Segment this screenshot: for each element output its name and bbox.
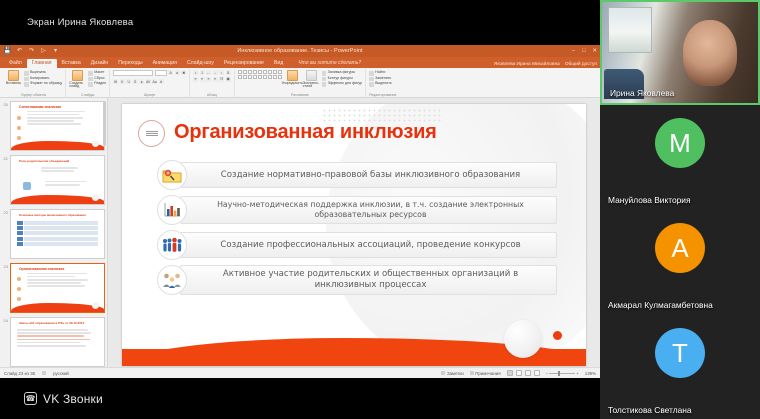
- underline-icon[interactable]: Ч: [126, 79, 131, 84]
- shape-icon[interactable]: [268, 70, 272, 74]
- zoom-level[interactable]: 139%: [585, 371, 596, 376]
- slide-logo: [138, 120, 165, 147]
- thumbnail-bullet-icon: [17, 287, 21, 291]
- zoom-out-button[interactable]: −: [546, 371, 549, 376]
- drawing-group-label: Рисование: [238, 94, 363, 98]
- thumbnail-decoration: [92, 140, 99, 147]
- zoom-slider-knob[interactable]: [558, 371, 560, 376]
- tab-review[interactable]: Рецензирование: [219, 59, 269, 68]
- outline-icon: [322, 77, 327, 82]
- slide-circle-decoration: [553, 331, 562, 340]
- thumbnail-title: Роль родительских объединений: [19, 159, 104, 163]
- shape-icon[interactable]: [278, 75, 282, 79]
- shape-fill-button[interactable]: Заливка фигуры: [322, 71, 363, 76]
- thumbnail-slide-21[interactable]: Роль родительских объединений: [10, 155, 105, 205]
- clear-formatting-icon[interactable]: ✖: [181, 70, 186, 75]
- shape-icon[interactable]: [263, 75, 267, 79]
- smartart-icon[interactable]: ▣: [226, 77, 231, 82]
- thumbnail-slide-24[interactable]: Закон «Об образовании в РФ» от 29.12.201…: [10, 317, 105, 367]
- decrease-indent-icon[interactable]: ←: [206, 70, 211, 75]
- arrange-button[interactable]: Упорядочить: [284, 70, 301, 85]
- italic-icon[interactable]: К: [120, 79, 125, 84]
- slide-bullet-text: Научно-методическая поддержка инклюзии, …: [199, 200, 542, 219]
- powerpoint-window: 💾 ↶ ↷ ▷ ▾ Инклюзивное образование. Тезис…: [0, 45, 600, 378]
- strikethrough-icon[interactable]: S: [133, 79, 138, 84]
- slide-bullet-box: Создание профессиональных ассоциаций, пр…: [180, 232, 557, 258]
- slide-editing-stage[interactable]: Организованная инклюзия: [108, 98, 600, 377]
- document-title: Инклюзивное образование. Тезисы - PowerP…: [0, 48, 600, 54]
- phone-icon: ☎: [24, 392, 37, 405]
- tab-slideshow[interactable]: Слайд-шоу: [182, 59, 219, 68]
- slide-title: Организованная инклюзия: [174, 121, 437, 144]
- thumbnail-number: 21: [2, 155, 8, 161]
- select-button[interactable]: Выделить: [369, 82, 392, 87]
- zoom-in-button[interactable]: +: [576, 371, 579, 376]
- participant-tile-akmaral-kulmagambetovna[interactable]: А Акмарал Кулмагамбетовна: [600, 210, 760, 315]
- editing-group-label: Редактирование: [369, 94, 396, 98]
- slide-bullet-item[interactable]: Активное участие родительских и обществе…: [157, 265, 557, 295]
- participant-name: Акмарал Кулмагамбетовна: [608, 300, 713, 310]
- thumbnail-number: 20: [2, 101, 8, 107]
- shape-icon[interactable]: [263, 70, 267, 74]
- screen-share-call-window: Экран Ирина Яковлева 💾 ↶ ↷ ▷ ▾ Инклюзивн…: [0, 0, 760, 419]
- slideshow-icon[interactable]: [534, 370, 540, 376]
- font-name-input[interactable]: [113, 70, 153, 76]
- thumbnail-decoration: [92, 302, 99, 309]
- thumbnail-decoration: [11, 141, 104, 150]
- shape-icon[interactable]: [238, 70, 242, 74]
- close-icon[interactable]: ✕: [592, 48, 597, 54]
- shape-icon[interactable]: [238, 75, 242, 79]
- thumbnail-number: 24: [2, 317, 8, 323]
- align-center-icon[interactable]: ≡: [200, 77, 205, 82]
- shape-icon[interactable]: [268, 75, 272, 79]
- text-direction-icon[interactable]: ⇅: [226, 70, 231, 75]
- tab-animations[interactable]: Анимация: [148, 59, 182, 68]
- participant-name: Толстикова Светлана: [608, 405, 692, 415]
- quick-styles-button[interactable]: Экспресс-стили: [303, 70, 320, 89]
- ribbon-group-font: A a ✖ Ж К Ч S ● AV Aa: [110, 69, 190, 98]
- ribbon-group-clipboard: Вставить Вырезать Копировать: [2, 69, 66, 98]
- current-slide[interactable]: Организованная инклюзия: [122, 104, 586, 366]
- minimize-icon[interactable]: –: [572, 48, 575, 54]
- reset-button[interactable]: Сброс: [88, 77, 106, 82]
- quick-styles-label: Экспресс-стили: [303, 82, 320, 89]
- thumbnail-scrollbar[interactable]: [103, 101, 106, 146]
- comments-icon: [470, 371, 474, 375]
- slide-bullet-text: Создание нормативно-правовой базы инклюз…: [221, 170, 520, 181]
- increase-indent-icon[interactable]: →: [213, 70, 218, 75]
- slide-circle-decoration: [504, 320, 542, 358]
- powerpoint-title-bar: 💾 ↶ ↷ ▷ ▾ Инклюзивное образование. Тезис…: [0, 45, 600, 57]
- vk-footer: ☎ VK Звонки: [0, 378, 600, 419]
- bullets-icon[interactable]: •: [193, 70, 198, 75]
- effects-icon: [322, 82, 327, 87]
- participant-name: Мануйлова Виктория: [608, 195, 691, 205]
- thumbnail-item[interactable]: 20 Сопоставимая инклюзия: [2, 101, 105, 151]
- slide-bullet-text: Активное участие родительских и обществе…: [199, 269, 542, 290]
- avatar: Т: [655, 328, 705, 378]
- account-name: Яковлева Ирина Михайловна: [494, 62, 560, 67]
- participant-rail[interactable]: Ирина Яковлева М Мануйлова Виктория А Ак…: [600, 0, 760, 419]
- ribbon-group-editing: Найти Заменить Выделить Редактирование: [366, 69, 399, 98]
- replace-icon: [369, 77, 374, 82]
- increase-font-icon[interactable]: A: [168, 70, 173, 75]
- shape-icon[interactable]: [253, 75, 257, 79]
- slide-bullet-item[interactable]: Научно-методическая поддержка инклюзии, …: [157, 195, 557, 225]
- thumbnail-slide-23[interactable]: Организованная инклюзия: [10, 263, 105, 313]
- view-buttons[interactable]: [507, 370, 540, 376]
- shape-icon[interactable]: [258, 70, 262, 74]
- slide-bullet-text: Создание профессиональных ассоциаций, пр…: [220, 240, 520, 251]
- participant-name: Ирина Яковлева: [610, 88, 674, 98]
- notes-button[interactable]: Заметки: [441, 371, 463, 376]
- tab-transitions[interactable]: Переходы: [113, 59, 147, 68]
- tab-file[interactable]: Файл: [4, 59, 27, 68]
- ribbon-tabs[interactable]: Файл Главная Вставка Дизайн Переходы Ани…: [0, 57, 600, 68]
- paste-icon: [8, 70, 19, 81]
- avatar: А: [655, 223, 705, 273]
- thumbnail-bullet-icon: [17, 126, 21, 130]
- folder-search-icon: [157, 160, 187, 190]
- shape-icon[interactable]: [253, 70, 257, 74]
- thumbnail-decoration: [11, 303, 104, 312]
- shapes-gallery[interactable]: [238, 70, 282, 79]
- tab-design[interactable]: Дизайн: [86, 59, 113, 68]
- video-background-window: [608, 7, 652, 53]
- layout-icon: [88, 71, 93, 76]
- thumbnail-bullet-icon: [17, 297, 21, 301]
- thumbnail-slide-22[interactable]: Основные векторы инклюзивного образовани…: [10, 209, 105, 259]
- font-group-label: Шрифт: [113, 94, 186, 98]
- search-icon: [369, 71, 374, 76]
- normal-view-icon[interactable]: [507, 370, 513, 376]
- decrease-font-icon[interactable]: a: [175, 70, 180, 75]
- tell-me-search[interactable]: Что вы хотите сделать?: [298, 60, 361, 68]
- shadow-icon[interactable]: ●: [139, 79, 144, 84]
- columns-icon[interactable]: ☷: [219, 77, 224, 82]
- participant-tile-tolstikova-svetlana[interactable]: Т Толстикова Светлана: [600, 315, 760, 419]
- bar-chart-icon: [157, 195, 187, 225]
- char-spacing-icon[interactable]: AV: [146, 79, 151, 84]
- people-group-icon: [157, 230, 187, 260]
- thumbnail-decoration: [92, 194, 99, 201]
- slide-dot-pattern: [322, 108, 442, 122]
- participant-tile-manuylova-viktoriya[interactable]: М Мануйлова Виктория: [600, 105, 760, 210]
- shape-icon[interactable]: [258, 75, 262, 79]
- avatar: М: [655, 118, 705, 168]
- line-spacing-icon[interactable]: ↕: [219, 70, 224, 75]
- slide-bullet-list: Создание нормативно-правовой базы инклюз…: [157, 160, 557, 300]
- new-slide-icon: [72, 70, 83, 81]
- font-color-icon[interactable]: A: [159, 79, 164, 84]
- thumbnail-decoration: [11, 195, 104, 204]
- thumbnail-number: 22: [2, 209, 8, 215]
- status-bar[interactable]: Слайд 23 из 36 русский Заметки Примечани…: [0, 367, 600, 378]
- zoom-slider[interactable]: − +: [546, 371, 579, 376]
- vk-brand-label: VK Звонки: [43, 392, 103, 406]
- section-icon: [88, 82, 93, 87]
- section-button[interactable]: Раздел: [88, 82, 106, 87]
- thumbnail-bullet-icon: [17, 277, 21, 281]
- numbering-icon[interactable]: 1: [200, 70, 205, 75]
- thumbnail-bullet-icon: [17, 136, 21, 140]
- slide-sorter-icon[interactable]: [516, 370, 522, 376]
- tab-view[interactable]: Вид: [269, 59, 288, 68]
- shape-icon[interactable]: [273, 75, 277, 79]
- thumbnail-item-selected[interactable]: 23 Организованная инклюзия: [2, 263, 105, 313]
- align-right-icon[interactable]: ≡: [206, 77, 211, 82]
- cut-button[interactable]: Вырезать: [24, 71, 62, 76]
- slide-bullet-item[interactable]: Создание нормативно-правовой базы инклюз…: [157, 160, 557, 190]
- bold-icon[interactable]: Ж: [113, 79, 118, 84]
- justify-icon[interactable]: ≡: [213, 77, 218, 82]
- arrange-label: Упорядочить: [281, 82, 302, 86]
- ribbon-group-slides: Создать слайд Макет Сброс: [66, 69, 110, 98]
- slide-thumbnail-pane[interactable]: 20 Сопоставимая инклюзия 21: [0, 98, 108, 377]
- vk-brand: ☎ VK Звонки: [24, 392, 103, 406]
- shape-outline-button[interactable]: Контур фигуры: [322, 77, 363, 82]
- workspace: 20 Сопоставимая инклюзия 21: [0, 98, 600, 377]
- ribbon-group-drawing: Упорядочить Экспресс-стили Заливка фигур…: [235, 69, 367, 98]
- thumbnail-title: Сопоставимая инклюзия: [19, 105, 104, 109]
- window-controls[interactable]: – □ ✕: [572, 48, 597, 54]
- thumbnail-item[interactable]: 24 Закон «Об образовании в РФ» от 29.12.…: [2, 317, 105, 367]
- thumbnail-number: 23: [2, 263, 8, 269]
- shape-icon[interactable]: [278, 70, 282, 74]
- shape-icon[interactable]: [243, 75, 247, 79]
- find-button[interactable]: Найти: [369, 71, 392, 76]
- shape-icon[interactable]: [243, 70, 247, 74]
- reset-icon: [88, 77, 93, 82]
- thumbnail-item[interactable]: 21 Роль родительских объединений: [2, 155, 105, 205]
- font-format-buttons[interactable]: Ж К Ч S ● AV Aa A: [113, 79, 164, 84]
- copy-button[interactable]: Копировать: [24, 77, 62, 82]
- slide-bullet-item[interactable]: Создание профессиональных ассоциаций, пр…: [157, 230, 557, 260]
- arrange-icon: [287, 70, 298, 81]
- family-group-icon: [157, 265, 187, 295]
- thumbnail-title: Основные векторы инклюзивного образовани…: [19, 213, 104, 217]
- comments-button[interactable]: Примечания: [470, 371, 501, 376]
- reading-view-icon[interactable]: [525, 370, 531, 376]
- slide-bullet-box: Научно-методическая поддержка инклюзии, …: [180, 196, 557, 223]
- quick-styles-icon: [306, 70, 317, 81]
- format-painter-button[interactable]: Формат по образцу: [24, 82, 62, 87]
- notes-icon: [441, 371, 445, 375]
- paste-label: Вставить: [6, 82, 21, 86]
- paragraph-row-1[interactable]: • 1 ← → ↕ ⇅: [193, 70, 231, 75]
- tab-insert[interactable]: Вставка: [57, 59, 86, 68]
- fill-icon: [322, 71, 327, 76]
- share-title: Экран Ирина Яковлева: [27, 17, 133, 28]
- shape-icon[interactable]: [248, 70, 252, 74]
- thumbnail-item[interactable]: 22 Основные векторы инклюзивного образов…: [2, 209, 105, 259]
- new-slide-button[interactable]: Создать слайд: [69, 70, 86, 89]
- new-slide-label: Создать слайд: [69, 82, 86, 89]
- share-button[interactable]: Общий доступ: [565, 62, 597, 67]
- thumbnail-bullet-icon: [17, 116, 21, 120]
- thumbnail-slide-20[interactable]: Сопоставимая инклюзия: [10, 101, 105, 151]
- paste-button[interactable]: Вставить: [5, 70, 22, 85]
- thumbnail-figure-icon: [23, 182, 31, 190]
- change-case-icon[interactable]: Aa: [152, 79, 157, 84]
- tab-home[interactable]: Главная: [27, 59, 57, 68]
- shape-effects-button[interactable]: Эффекты для фигур: [322, 82, 363, 87]
- slide-bullet-box: Создание нормативно-правовой базы инклюз…: [180, 162, 557, 188]
- share-header: Экран Ирина Яковлева: [0, 0, 600, 45]
- copy-icon: [24, 77, 29, 82]
- paintbrush-icon: [24, 82, 29, 87]
- paragraph-group-label: Абзац: [193, 94, 231, 98]
- restore-icon[interactable]: □: [582, 48, 585, 54]
- slide-counter: Слайд 23 из 36: [4, 371, 35, 376]
- select-icon: [369, 82, 374, 87]
- account-area[interactable]: Яковлева Ирина Михайловна Общий доступ: [494, 62, 597, 67]
- slide-bullet-box: Активное участие родительских и обществе…: [180, 265, 557, 294]
- scissors-icon: [24, 71, 29, 76]
- paragraph-row-2[interactable]: ≡ ≡ ≡ ≡ ☷ ▣: [193, 77, 231, 82]
- language-indicator[interactable]: русский: [53, 371, 69, 376]
- shape-icon[interactable]: [248, 75, 252, 79]
- spellcheck-icon[interactable]: [42, 371, 46, 375]
- participant-tile-irina-yakovleva[interactable]: Ирина Яковлева: [600, 0, 760, 105]
- layout-button[interactable]: Макет: [88, 71, 106, 76]
- thumbnail-title: Организованная инклюзия: [19, 267, 104, 271]
- align-left-icon[interactable]: ≡: [193, 77, 198, 82]
- replace-button[interactable]: Заменить: [369, 77, 392, 82]
- font-size-input[interactable]: [155, 70, 167, 76]
- shape-icon[interactable]: [273, 70, 277, 74]
- thumbnail-title: Закон «Об образовании в РФ» от 29.12.201…: [19, 321, 104, 325]
- ribbon[interactable]: Вставить Вырезать Копировать: [0, 68, 600, 98]
- ribbon-group-paragraph: • 1 ← → ↕ ⇅ ≡ ≡ ≡ ≡ ☷ ▣: [190, 69, 235, 98]
